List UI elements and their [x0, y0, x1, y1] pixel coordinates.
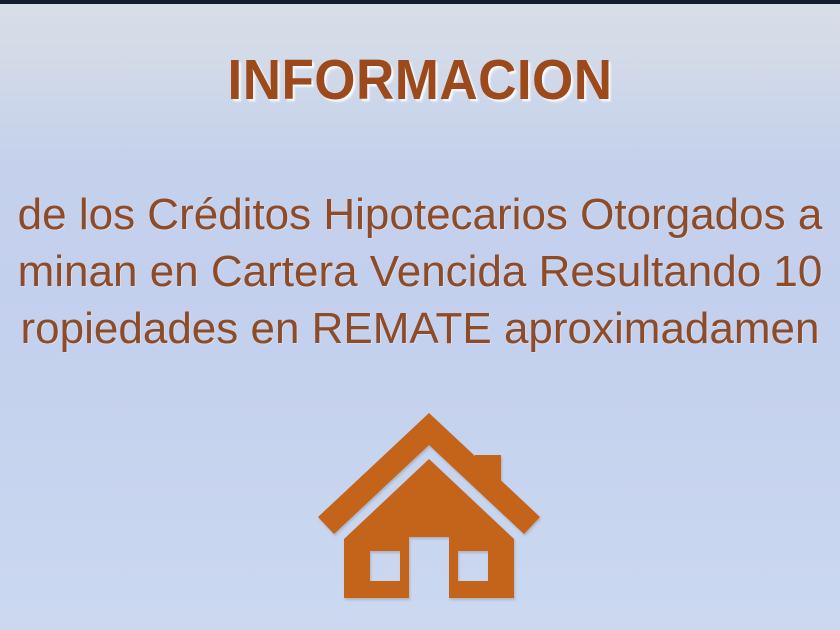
body-text-line-1: de los Créditos Hipotecarios Otorgados a [0, 186, 840, 243]
house-icon [318, 408, 540, 604]
body-text-line-2: minan en Cartera Vencida Resultando 10 [0, 243, 840, 300]
top-edge-bar [0, 0, 840, 4]
house-icon-graphic [318, 408, 540, 604]
house-chimney [475, 455, 501, 512]
page-title: INFORMACION [29, 52, 810, 109]
body-text-line-3: ropiedades en REMATE aproximadamen [0, 300, 840, 357]
presentation-slide: INFORMACION de los Créditos Hipotecarios… [0, 0, 840, 630]
slide-body-text: de los Créditos Hipotecarios Otorgados a… [0, 186, 840, 357]
